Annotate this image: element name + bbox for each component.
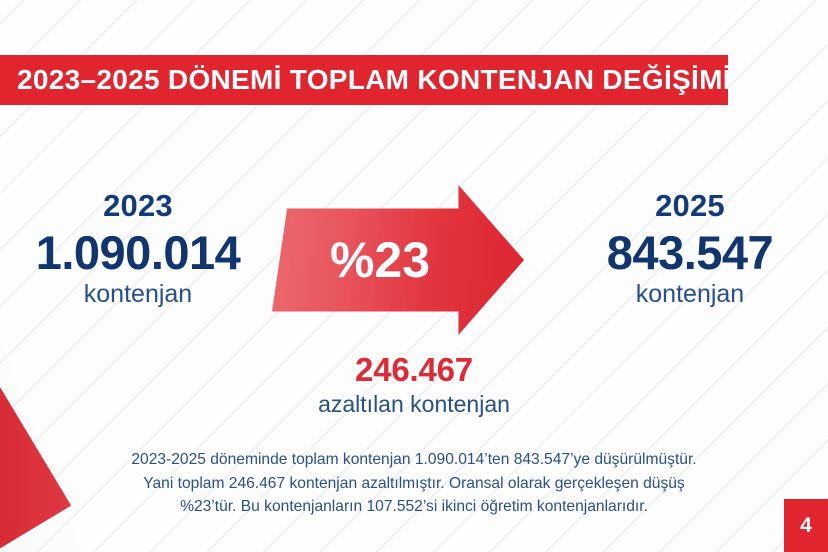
stat-block-2025: 2025 843.547 kontenjan [540, 190, 828, 309]
stat-label-right: kontenjan [540, 281, 828, 309]
stat-block-2023: 2023 1.090.014 kontenjan [0, 190, 288, 309]
stat-value-right: 843.547 [540, 225, 828, 280]
stat-year-left: 2023 [0, 190, 288, 223]
page-number: 4 [800, 514, 812, 538]
reduction-block: 246.467 azaltılan kontenjan [214, 352, 614, 417]
stat-year-right: 2025 [540, 190, 828, 223]
paragraph-line-2: Yani toplam 246.467 kontenjan azaltılmış… [100, 472, 728, 496]
description-paragraph: 2023-2025 döneminde toplam kontenjan 1.0… [100, 448, 728, 519]
page-title: 2023–2025 DÖNEMİ TOPLAM KONTENJAN DEĞİŞİ… [0, 64, 731, 96]
title-banner: 2023–2025 DÖNEMİ TOPLAM KONTENJAN DEĞİŞİ… [0, 55, 728, 105]
paragraph-line-3: %23’tür. Bu kontenjanların 107.552’si ik… [100, 495, 728, 519]
stat-label-left: kontenjan [0, 281, 288, 309]
percent-change-label: %23 [282, 182, 478, 338]
page-number-badge: 4 [784, 499, 828, 552]
reduction-value: 246.467 [214, 352, 614, 389]
organization-logo: ULU [0, 324, 71, 552]
logo-plate-front [0, 345, 71, 552]
stat-value-left: 1.090.014 [0, 225, 288, 280]
paragraph-line-1: 2023-2025 döneminde toplam kontenjan 1.0… [100, 448, 728, 472]
change-arrow: %23 [272, 182, 524, 338]
reduction-label: azaltılan kontenjan [214, 391, 614, 417]
slide-canvas: 2023–2025 DÖNEMİ TOPLAM KONTENJAN DEĞİŞİ… [0, 0, 828, 552]
